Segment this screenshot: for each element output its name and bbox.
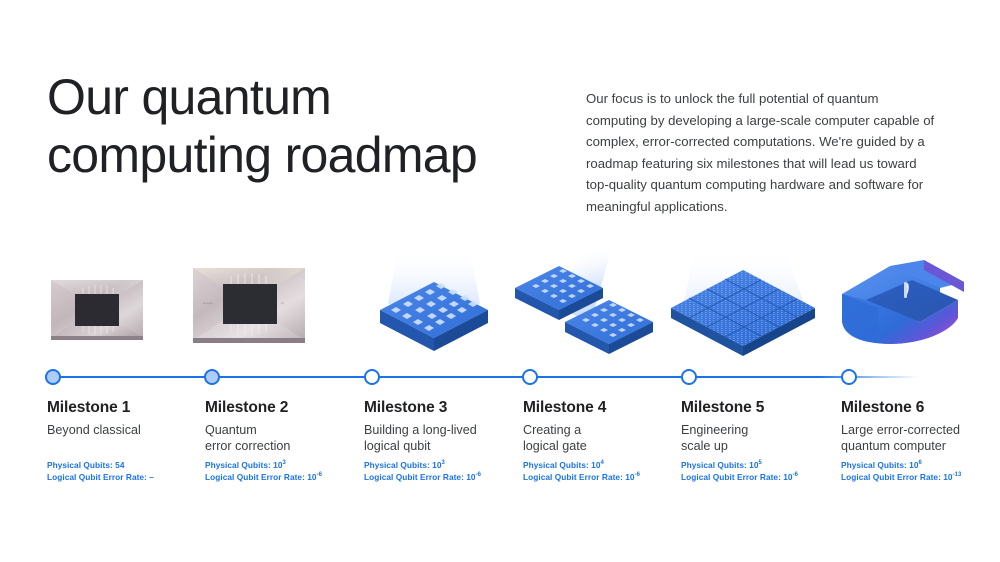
milestone-stats: Physical Qubits: 106 Logical Qubit Error…	[841, 460, 1000, 483]
physical-qubits-stat: Physical Qubits: 103	[205, 460, 375, 472]
error-rate-exponent: -6	[635, 472, 640, 478]
milestone-stats: Physical Qubits: 103 Logical Qubit Error…	[205, 460, 375, 483]
physical-qubits-exponent: 3	[283, 460, 286, 466]
timeline-dot-4[interactable]	[522, 369, 538, 385]
physical-qubits-stat: Physical Qubits: 104	[523, 460, 693, 472]
error-rate-stat: Logical Qubit Error Rate: 10-6	[205, 472, 375, 484]
error-rate-stat: Logical Qubit Error Rate: –	[47, 472, 217, 484]
milestone-columns: Milestone 1 Beyond classical Physical Qu…	[0, 398, 1000, 508]
physical-qubits-exponent: 6	[919, 460, 922, 466]
timeline-dot-6[interactable]	[841, 369, 857, 385]
milestone-subtitle: Quantum error correction	[205, 422, 357, 454]
error-rate-stat: Logical Qubit Error Rate: 10-13	[841, 472, 1000, 484]
timeline-track	[53, 376, 918, 378]
physical-qubits-stat: Physical Qubits: 54	[47, 460, 217, 472]
milestone-stats: Physical Qubits: 54 Logical Qubit Error …	[47, 460, 217, 483]
milestone-subtitle: Creating a logical gate	[523, 422, 675, 454]
milestone-stats: Physical Qubits: 105 Logical Qubit Error…	[681, 460, 851, 483]
graphic-module-rounded	[828, 248, 988, 364]
graphic-chip-single-small	[36, 248, 196, 364]
svg-text:Google: Google	[203, 301, 213, 305]
physical-qubits-exponent: 3	[442, 460, 445, 466]
milestone-column-1[interactable]: Milestone 1 Beyond classical Physical Qu…	[47, 398, 199, 438]
intro-paragraph: Our focus is to unlock the full potentia…	[586, 88, 938, 217]
error-rate-stat: Logical Qubit Error Rate: 10-6	[523, 472, 693, 484]
error-rate-stat: Logical Qubit Error Rate: 10-6	[681, 472, 851, 484]
svg-text:AI: AI	[281, 301, 284, 305]
timeline-dot-5[interactable]	[681, 369, 697, 385]
physical-qubits-stat: Physical Qubits: 106	[841, 460, 1000, 472]
physical-qubits-stat: Physical Qubits: 103	[364, 460, 534, 472]
error-rate-exponent: -13	[953, 472, 962, 478]
error-rate-stat: Logical Qubit Error Rate: 10-6	[364, 472, 534, 484]
roadmap-timeline	[0, 364, 1000, 390]
milestone-title: Milestone 6	[841, 398, 993, 418]
milestone-column-4[interactable]: Milestone 4 Creating a logical gate Phys…	[523, 398, 675, 454]
timeline-dot-3[interactable]	[364, 369, 380, 385]
milestone-stats: Physical Qubits: 104 Logical Qubit Error…	[523, 460, 693, 483]
physical-qubits-exponent: 5	[759, 460, 762, 466]
timeline-dot-2[interactable]	[204, 369, 220, 385]
error-rate-exponent: -6	[793, 472, 798, 478]
graphic-tile-single	[358, 248, 518, 364]
milestone-column-5[interactable]: Milestone 5 Engineering scale up Physica…	[681, 398, 833, 454]
milestone-subtitle: Large error-corrected quantum computer	[841, 422, 993, 454]
graphic-chip-single-large: Google AI	[185, 248, 315, 364]
milestone-title: Milestone 1	[47, 398, 199, 418]
milestone-title: Milestone 5	[681, 398, 833, 418]
physical-qubits-stat: Physical Qubits: 105	[681, 460, 851, 472]
physical-qubits-exponent: 4	[601, 460, 604, 466]
timeline-dot-1[interactable]	[45, 369, 61, 385]
milestone-column-2[interactable]: Milestone 2 Quantum error correction Phy…	[205, 398, 357, 454]
milestone-subtitle: Beyond classical	[47, 422, 199, 438]
milestone-stats: Physical Qubits: 103 Logical Qubit Error…	[364, 460, 534, 483]
graphic-tile-array	[665, 248, 825, 364]
graphic-tile-pair	[505, 248, 665, 364]
milestone-title: Milestone 4	[523, 398, 675, 418]
milestone-column-3[interactable]: Milestone 3 Building a long-lived logica…	[364, 398, 516, 454]
roadmap-page: Our quantum computing roadmap Our focus …	[0, 0, 1000, 562]
error-rate-exponent: -6	[317, 472, 322, 478]
hardware-graphics-row: Google AI	[0, 248, 1000, 364]
milestone-column-6[interactable]: Milestone 6 Large error-corrected quantu…	[841, 398, 993, 454]
milestone-title: Milestone 2	[205, 398, 357, 418]
header: Our quantum computing roadmap Our focus …	[0, 0, 1000, 230]
page-title: Our quantum computing roadmap	[47, 68, 577, 184]
error-rate-exponent: -6	[476, 472, 481, 478]
milestone-subtitle: Engineering scale up	[681, 422, 833, 454]
milestone-subtitle: Building a long-lived logical qubit	[364, 422, 516, 454]
milestone-title: Milestone 3	[364, 398, 516, 418]
